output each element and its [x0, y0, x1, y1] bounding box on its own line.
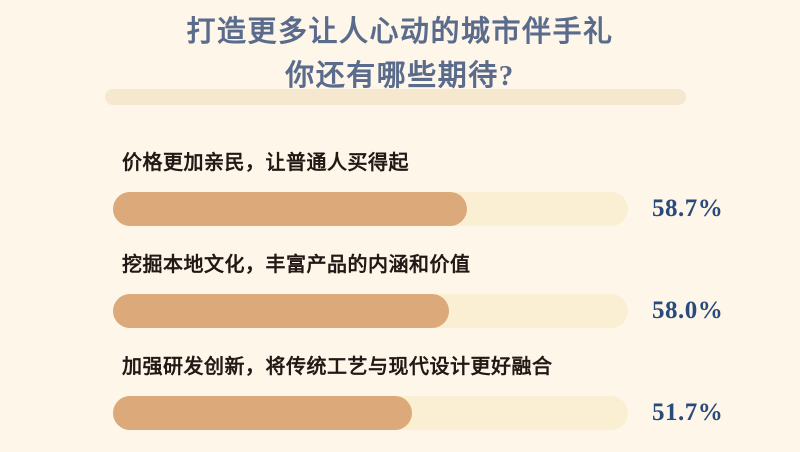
poll-row: 价格更加亲民，让普通人买得起 58.7%	[0, 148, 800, 248]
poll-infographic-card: 打造更多让人心动的城市伴手礼 你还有哪些期待? 价格更加亲民，让普通人买得起 5…	[0, 0, 800, 451]
poll-bar-fill	[113, 396, 412, 430]
poll-option-label: 加强研发创新，将传统工艺与现代设计更好融合	[122, 352, 553, 382]
poll-option-label: 挖掘本地文化，丰富产品的内涵和价值	[122, 250, 471, 280]
poll-row: 挖掘本地文化，丰富产品的内涵和价值 58.0%	[0, 250, 800, 350]
poll-row: 加强研发创新，将传统工艺与现代设计更好融合 51.7%	[0, 352, 800, 452]
poll-bar-fill	[113, 294, 449, 328]
title-line-secondary: 你还有哪些期待?	[0, 54, 800, 98]
poll-percentage-value: 58.7%	[652, 192, 762, 226]
poll-percentage-value: 58.0%	[652, 294, 762, 328]
poll-bar	[113, 192, 628, 226]
poll-percentage-value: 51.7%	[652, 396, 762, 430]
poll-bar-fill	[113, 192, 467, 226]
poll-option-label: 价格更加亲民，让普通人买得起	[122, 148, 409, 178]
poll-bar	[113, 396, 628, 430]
page-title: 打造更多让人心动的城市伴手礼 你还有哪些期待?	[0, 0, 800, 98]
title-line-primary: 打造更多让人心动的城市伴手礼	[0, 10, 800, 54]
poll-bar	[113, 294, 628, 328]
